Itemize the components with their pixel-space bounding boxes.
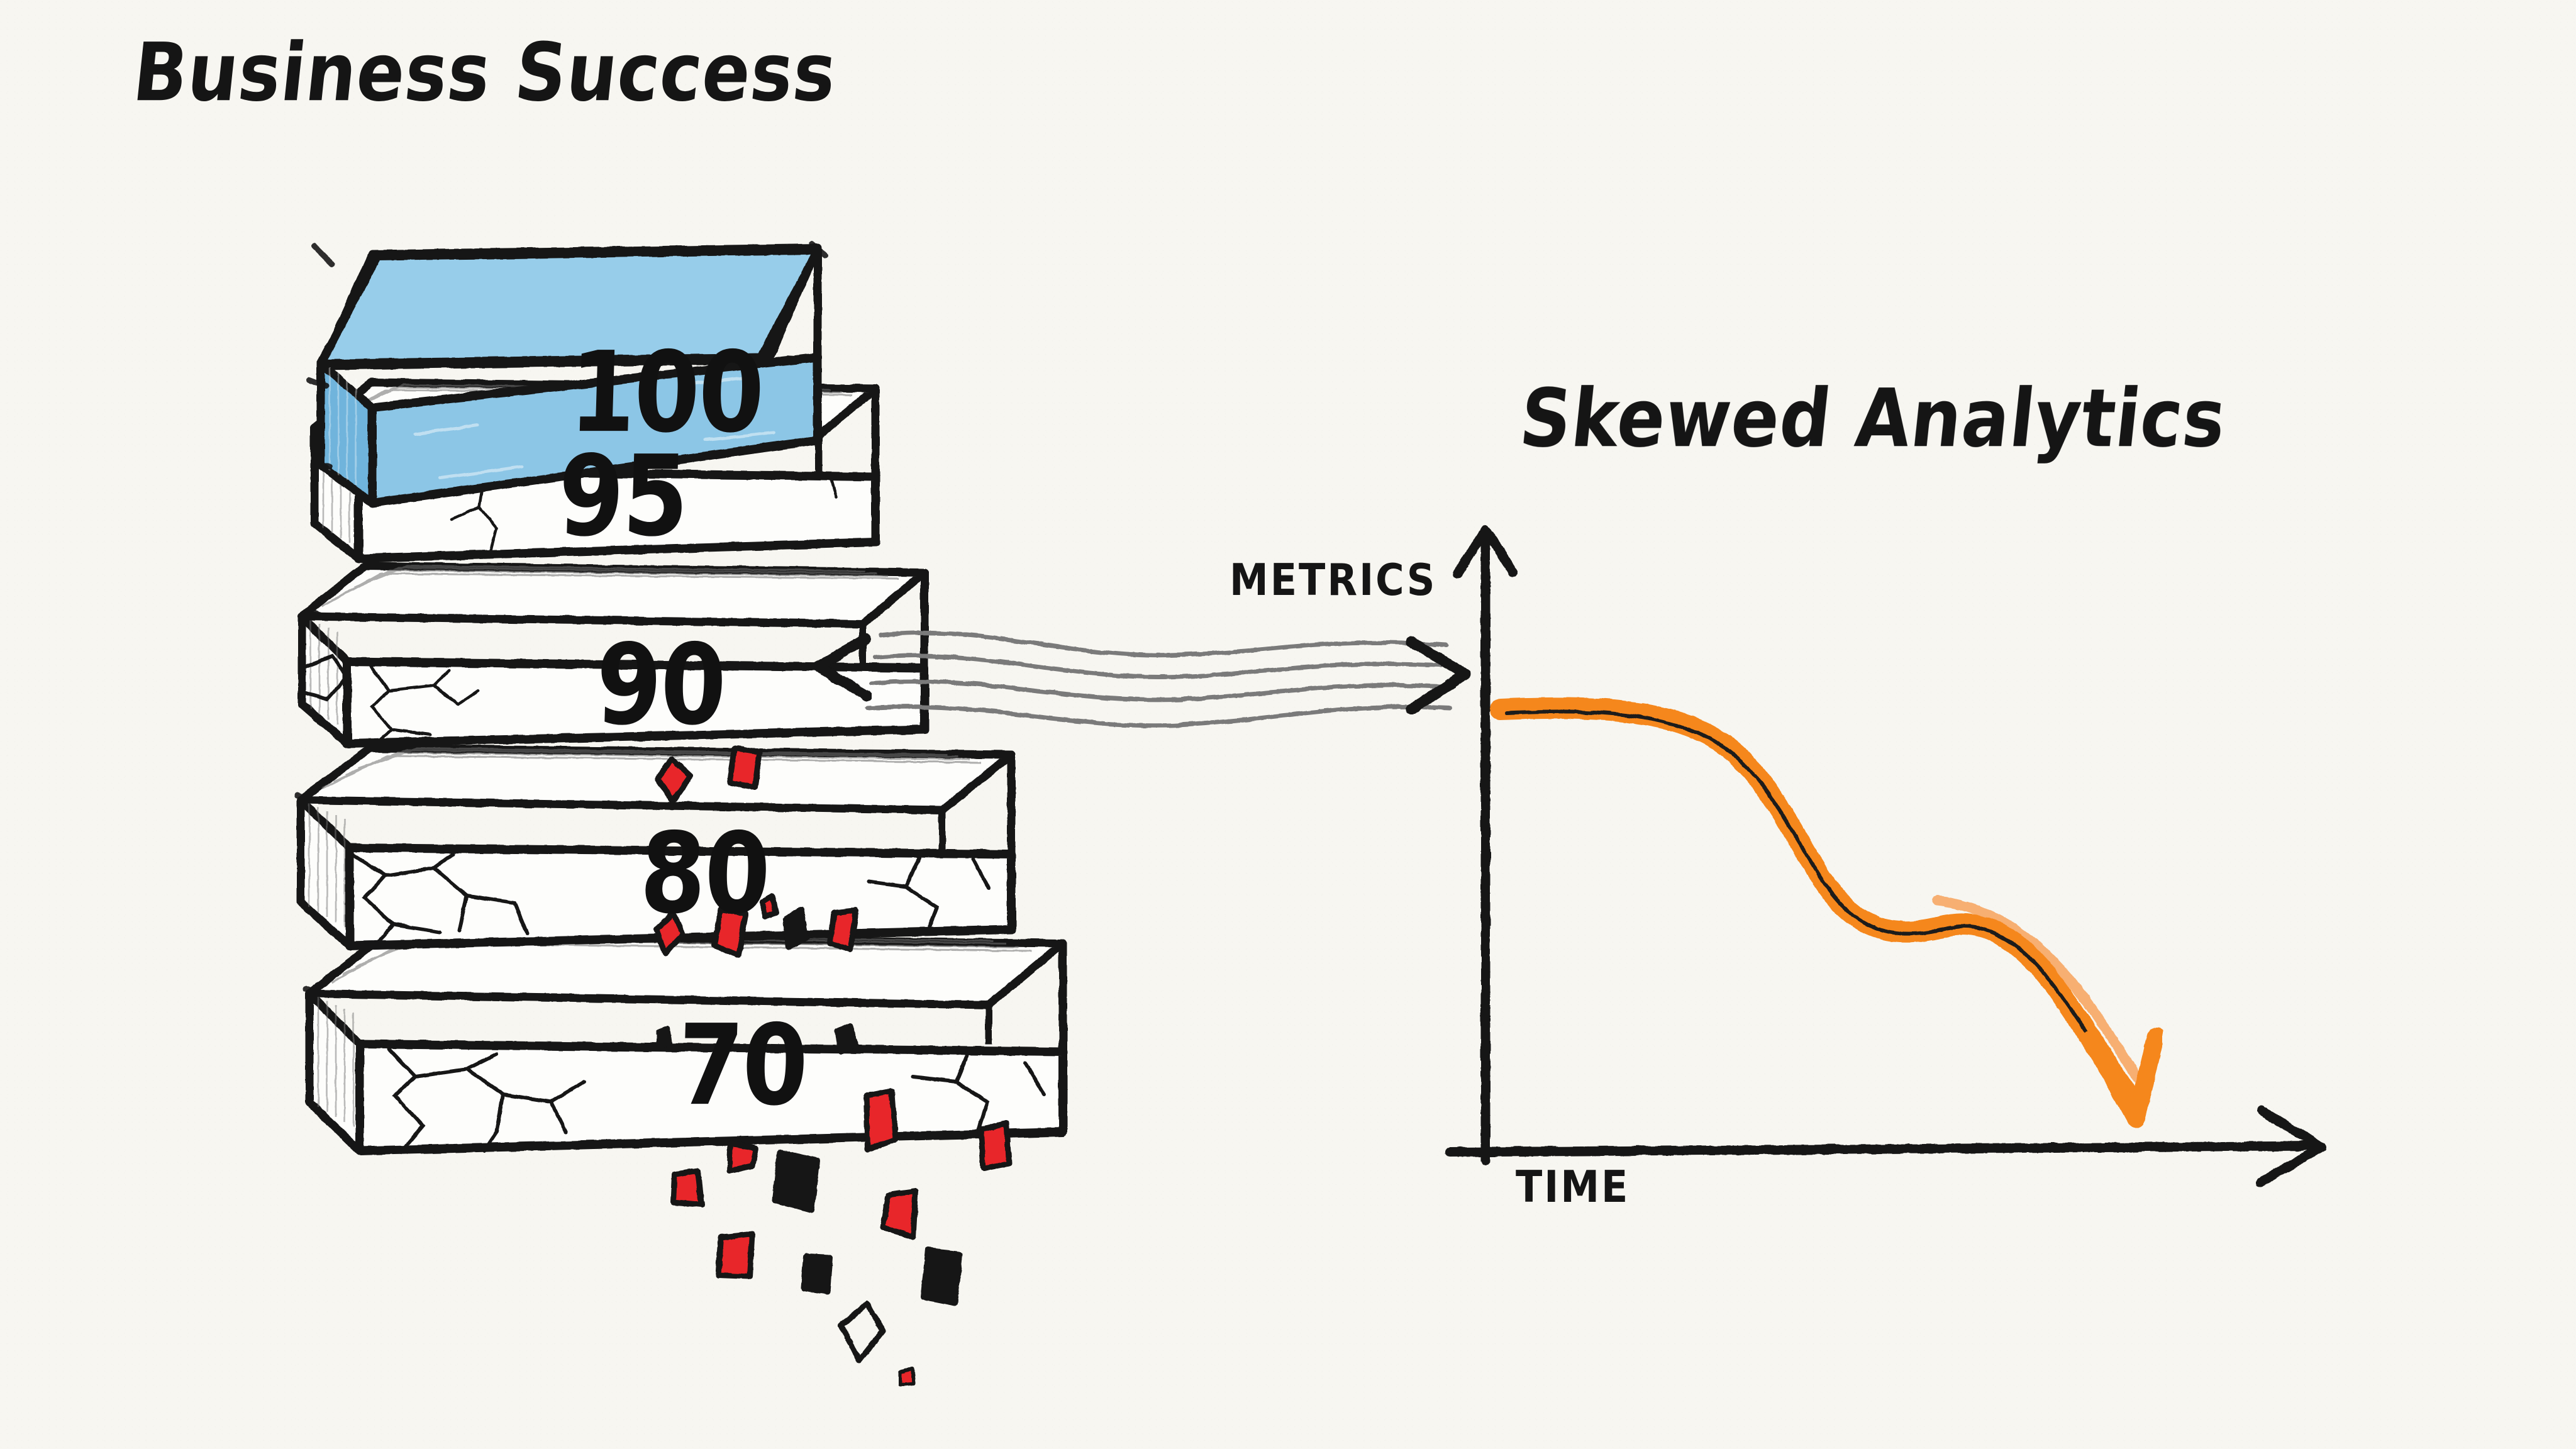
block-label-70: 70 <box>648 1006 836 1126</box>
time-axis-label: TIME <box>1516 1161 1629 1213</box>
block-label-80: 80 <box>610 818 799 931</box>
chart-axes <box>1450 530 2322 1182</box>
skewed-analytics-title: Skewed Analytics <box>1516 372 2231 465</box>
metrics-axis-label: METRICS <box>1230 554 1436 606</box>
scene-svg <box>0 0 2576 1449</box>
block-label-100: 100 <box>553 340 780 447</box>
block-label-90: 90 <box>566 629 755 742</box>
arrow-right-into-axis-icon <box>1411 641 1465 709</box>
metrics-flow-lines <box>868 633 1450 725</box>
block-label-95: 95 <box>528 440 717 553</box>
whiteboard-canvas: Business Success <box>0 0 2576 1449</box>
declining-metrics-curve <box>1501 708 2156 1119</box>
